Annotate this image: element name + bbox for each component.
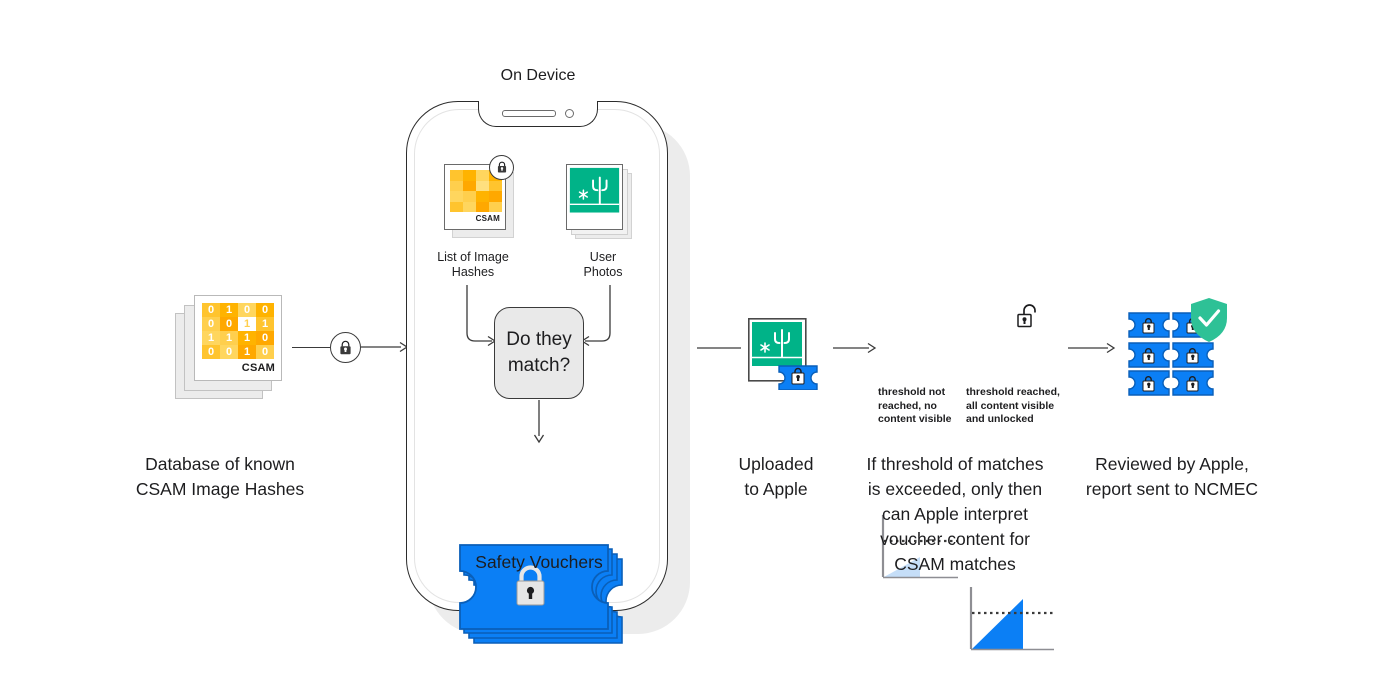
cactus-photo-icon bbox=[567, 165, 622, 229]
user-photos-label: User Photos bbox=[553, 250, 653, 280]
on-device-title: On Device bbox=[438, 66, 638, 86]
do-they-match-box: Do they match? bbox=[494, 307, 584, 399]
attached-voucher-badge-icon bbox=[779, 366, 817, 390]
earpiece-speaker-icon bbox=[502, 110, 556, 117]
hash-cell: 1 bbox=[220, 331, 238, 345]
diagram-canvas: 0 1 0 0 0 0 1 1 1 1 1 0 0 0 1 0 CSAM Dat… bbox=[0, 0, 1398, 678]
csam-database-card-stack: 0 1 0 0 0 0 1 1 1 1 1 0 0 0 1 0 CSAM bbox=[175, 295, 285, 400]
hash-cell: 0 bbox=[220, 345, 238, 359]
uploaded-photo-card bbox=[748, 318, 823, 390]
chart-not-reached-label: threshold not reached, no content visibl… bbox=[878, 386, 964, 427]
arrow-lock-to-phone bbox=[361, 336, 409, 358]
hash-cell: 1 bbox=[256, 317, 274, 331]
hash-cell: 1 bbox=[238, 331, 256, 345]
front-camera-icon bbox=[565, 109, 574, 118]
hash-cell: 0 bbox=[202, 303, 220, 317]
hash-cell: 0 bbox=[202, 317, 220, 331]
arrow-match-to-vouchers bbox=[529, 400, 551, 444]
encryption-lock-icon bbox=[330, 332, 361, 363]
phone-notch bbox=[478, 101, 598, 127]
review-caption: Reviewed by Apple, report sent to NCMEC bbox=[1072, 452, 1272, 502]
chart-reached-graphic bbox=[966, 587, 1056, 659]
hash-cell: 0 bbox=[220, 317, 238, 331]
hash-cell: 1 bbox=[238, 317, 256, 331]
hash-cell: 0 bbox=[256, 331, 274, 345]
device-hash-card-stack: CSAM bbox=[444, 164, 522, 244]
uploaded-photo-graphic bbox=[748, 318, 823, 390]
hash-grid: 0 1 0 0 0 0 1 1 1 1 1 0 0 0 1 0 bbox=[202, 303, 274, 359]
user-photos-card-stack bbox=[566, 164, 644, 244]
hash-lock-badge-icon bbox=[489, 155, 514, 180]
safety-vouchers-label: Safety Vouchers bbox=[449, 550, 629, 575]
card-front: 0 1 0 0 0 0 1 1 1 1 1 0 0 0 1 0 CSAM bbox=[194, 295, 282, 381]
hash-cell: 0 bbox=[202, 345, 220, 359]
user-photo-card bbox=[566, 164, 623, 230]
threshold-caption: If threshold of matches is exceeded, onl… bbox=[855, 452, 1055, 577]
arrow-phone-to-upload bbox=[697, 337, 749, 359]
open-padlock-graphic bbox=[1016, 303, 1042, 331]
hashes-label: List of Image Hashes bbox=[418, 250, 528, 280]
arrow-upload-to-threshold bbox=[833, 337, 881, 359]
hash-cell: 0 bbox=[256, 345, 274, 359]
chart-threshold-reached bbox=[966, 587, 1056, 659]
hash-cell: 0 bbox=[238, 303, 256, 317]
hash-cell: 1 bbox=[238, 345, 256, 359]
upload-caption: Uploaded to Apple bbox=[716, 452, 836, 502]
hash-cell: 1 bbox=[220, 303, 238, 317]
hash-cell: 1 bbox=[202, 331, 220, 345]
hash-cell: 0 bbox=[256, 303, 274, 317]
review-vouchers-graphic bbox=[1127, 296, 1227, 396]
database-caption: Database of known CSAM Image Hashes bbox=[120, 452, 320, 502]
review-voucher-grid bbox=[1127, 296, 1227, 396]
arrow-db-to-lock bbox=[292, 347, 330, 348]
chart-reached-label: threshold reached, all content visible a… bbox=[966, 386, 1062, 427]
csam-tag: CSAM bbox=[242, 362, 275, 374]
device-csam-tag: CSAM bbox=[476, 214, 500, 223]
arrow-threshold-to-review bbox=[1068, 337, 1120, 359]
unlock-icon bbox=[1016, 303, 1042, 331]
